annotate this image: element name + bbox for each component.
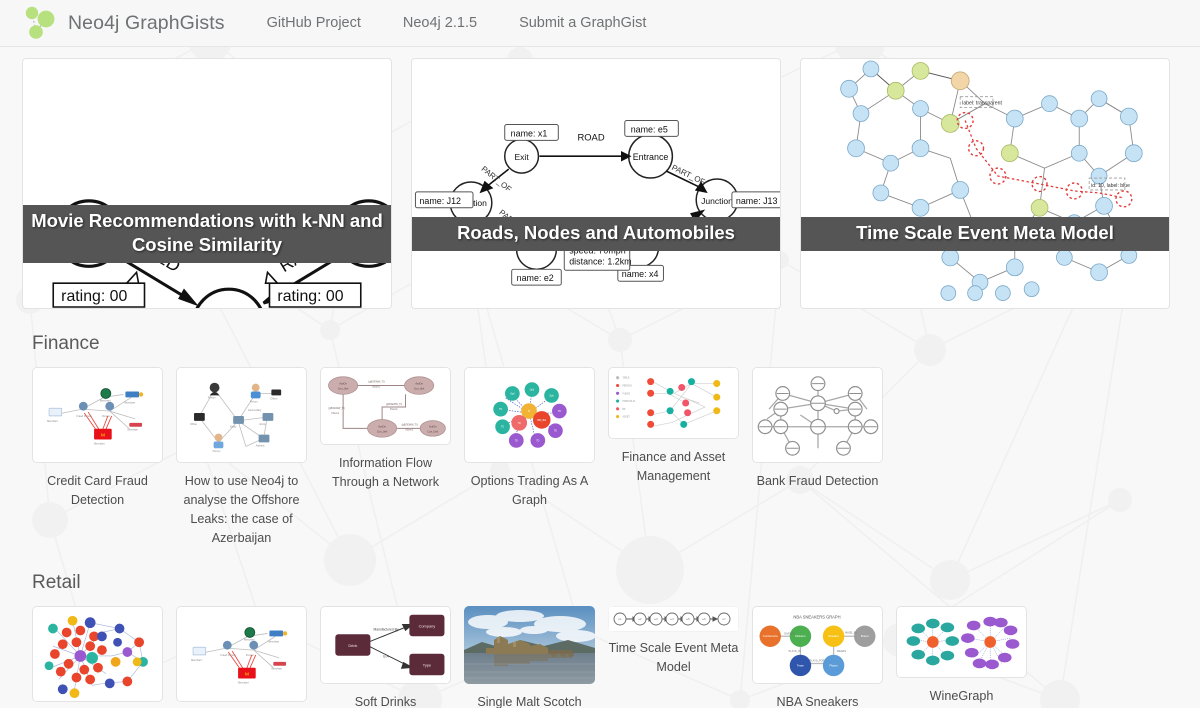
top-navigation-bar: Neo4j GraphGists GitHub Project Neo4j 2.…	[0, 0, 1200, 47]
tile-thumbnail	[32, 606, 163, 702]
tile-label: Time Scale Event Meta Model	[602, 639, 745, 677]
svg-text:Opti: Opti	[549, 394, 554, 397]
brand-title[interactable]: Neo4j GraphGists	[68, 12, 225, 35]
svg-text:{gBOEWW_TI}: {gBOEWW_TI}	[368, 381, 384, 384]
svg-text:Officer: Officer	[270, 397, 277, 400]
svg-text:name: e5: name: e5	[631, 124, 668, 134]
tile-bank-fraud-detection[interactable]: Bank Fraud Detection	[752, 367, 883, 491]
svg-text:e4: e4	[670, 617, 674, 621]
svg-text:e1: e1	[618, 617, 622, 621]
svg-text:FUNDS: FUNDS	[622, 393, 630, 395]
svg-text:Merchant: Merchant	[271, 668, 282, 671]
information-flow-art: ActiOnCon_Unit ActiOnCon_Unit ActiOnCon_…	[321, 368, 450, 444]
svg-text:{gBOEWW_TI}: {gBOEWW_TI}	[329, 407, 345, 410]
svg-text:TD: TD	[536, 440, 539, 442]
finance-tile-row: M MerchantFraud Person PersonMerchant Me…	[22, 367, 1178, 548]
svg-text:Con_Unit: Con_Unit	[377, 430, 388, 433]
svg-text:Con_Unit: Con_Unit	[338, 387, 349, 390]
tile-finance-and-asset-management[interactable]: TABLEPERSON FUNDSPORTFOLIO BPASSET Finan…	[608, 367, 739, 486]
svg-text:Manufactured By: Manufactured By	[374, 627, 399, 631]
tile-label: Finance and Asset Management	[602, 448, 745, 486]
tile-offshore-leaks-azerbaijan[interactable]: PersonPerson PersonOfficer EntityEntity …	[176, 367, 307, 548]
svg-text:Division: Division	[795, 634, 806, 638]
svg-text:{gBOEWW_TI}: {gBOEWW_TI}	[386, 403, 402, 406]
tile-label: Soft Drinks	[314, 693, 457, 708]
section-title-retail: Retail	[32, 572, 1178, 594]
tile-thumbnail: BBID_BidTD OptiOptiOpti TDTD TDTD TDTD	[464, 367, 595, 463]
nav-link-submit-graphgist[interactable]: Submit a GraphGist	[519, 15, 646, 31]
svg-text:MADE_BY: MADE_BY	[845, 631, 857, 634]
svg-text:rating: 00: rating: 00	[61, 288, 127, 305]
svg-text:distance: 1.2km: distance: 1.2km	[569, 256, 631, 266]
svg-text:name: x4: name: x4	[622, 269, 659, 279]
tile-information-flow-through-network[interactable]: ActiOnCon_Unit ActiOnCon_Unit ActiOnCon_…	[320, 367, 451, 492]
svg-text:PERSON: PERSON	[622, 385, 632, 387]
featured-card-roads-nodes-automobiles[interactable]: Exit Entrance Junction Junction ROAD PAR…	[411, 58, 781, 309]
svg-text:Entrance: Entrance	[633, 152, 669, 162]
svg-text:BP: BP	[622, 409, 625, 411]
tile-phone-store[interactable]: Phone Store	[32, 606, 163, 708]
svg-text:Merchant: Merchant	[127, 429, 138, 432]
tile-thumbnail: PersonPerson PersonOfficer EntityEntity …	[176, 367, 307, 463]
options-trading-art: BBID_BidTD OptiOptiOpti TDTD TDTD TDTD	[465, 368, 594, 462]
svg-text:Con_Unit: Con_Unit	[428, 430, 439, 433]
nav-link-neo4j-version[interactable]: Neo4j 2.1.5	[403, 15, 477, 31]
svg-text:name: J13: name: J13	[736, 196, 778, 206]
tile-credit-card-fraud-detection-retail[interactable]: M MerchantFraud Person PersonMerchant Me…	[176, 606, 307, 708]
soft-drinks-art: DrinkCompanyType Manufactured By Is A	[321, 607, 450, 683]
svg-text:TD: TD	[499, 409, 502, 411]
tile-soft-drinks[interactable]: DrinkCompanyType Manufactured By Is A So…	[320, 606, 451, 708]
svg-text:intermediary: intermediary	[248, 409, 262, 412]
roads-nodes-graph-art: Exit Entrance Junction Junction ROAD PAR…	[412, 59, 780, 308]
tile-thumbnail: DrinkCompanyType Manufactured By Is A	[320, 606, 451, 684]
svg-text:ASSET: ASSET	[622, 416, 630, 419]
svg-text:ROAD: ROAD	[577, 131, 604, 142]
svg-text:Merchant: Merchant	[238, 681, 249, 684]
tile-single-malt-scotch[interactable]: Single Malt Scotch	[464, 606, 595, 708]
svg-text:Address: Address	[256, 444, 266, 447]
svg-text:TD: TD	[518, 423, 521, 425]
svg-text:Conference: Conference	[763, 634, 778, 638]
bank-fraud-art	[753, 368, 882, 462]
svg-text:ActiOn: ActiOn	[339, 383, 347, 386]
svg-text:ActiOn: ActiOn	[429, 425, 437, 428]
tile-label: Information Flow Through a Network	[314, 454, 457, 492]
svg-text:e2: e2	[638, 617, 642, 621]
svg-text:Merchant: Merchant	[244, 638, 255, 641]
tile-thumbnail	[896, 606, 1027, 678]
finance-asset-art: TABLEPERSON FUNDSPORTFOLIO BPASSET	[609, 368, 738, 438]
tile-label: Options Trading As A Graph	[458, 472, 601, 510]
tile-thumbnail	[752, 367, 883, 463]
svg-text:Junction: Junction	[701, 196, 733, 206]
svg-text:hSum1: hSum1	[405, 428, 413, 431]
svg-text:Opti: Opti	[510, 392, 515, 395]
wine-graph-art	[897, 607, 1026, 677]
svg-text:M: M	[101, 433, 105, 439]
retail-tile-row: Phone Store	[22, 606, 1178, 708]
svg-text:TD: TD	[558, 411, 561, 413]
svg-text:hSum1: hSum1	[372, 385, 380, 388]
svg-text:Person: Person	[213, 450, 221, 453]
tile-label: Bank Fraud Detection	[746, 472, 889, 491]
svg-text:NBA SNEAKERS GRAPH: NBA SNEAKERS GRAPH	[793, 615, 840, 620]
svg-text:e5: e5	[686, 617, 690, 621]
nav-link-github-project[interactable]: GitHub Project	[267, 15, 361, 31]
svg-text:name: x1: name: x1	[511, 128, 548, 138]
tile-thumbnail: NBA SNEAKERS GRAPH	[752, 606, 883, 684]
tile-thumbnail: M MerchantFraud Person PersonMerchant Me…	[176, 606, 307, 702]
svg-text:Opti: Opti	[530, 389, 535, 392]
tile-thumbnail: ActiOnCon_Unit ActiOnCon_Unit ActiOnCon_…	[320, 367, 451, 445]
featured-card-movie-recommendations[interactable]: Person Person RATED RATED rating: 00	[22, 58, 392, 309]
svg-text:rating: 00: rating: 00	[277, 288, 343, 305]
featured-card-title: Roads, Nodes and Automobiles	[412, 217, 780, 251]
svg-text:Brand: Brand	[861, 634, 869, 638]
svg-text:Person: Person	[250, 400, 258, 403]
svg-text:Person: Person	[246, 654, 255, 657]
svg-text:name: e2: name: e2	[517, 273, 554, 283]
svg-text:PORTFOLIO: PORTFOLIO	[622, 401, 635, 403]
svg-text:Team: Team	[797, 663, 805, 667]
svg-text:Sneaker: Sneaker	[828, 634, 839, 638]
svg-text:M: M	[245, 672, 249, 678]
svg-text:ActiOn: ActiOn	[415, 383, 423, 386]
svg-text:Entity: Entity	[260, 423, 267, 426]
svg-text:hSum1: hSum1	[331, 412, 339, 415]
svg-text:e3: e3	[654, 617, 658, 621]
svg-text:Merchant: Merchant	[268, 640, 279, 643]
svg-text:Person: Person	[208, 396, 216, 399]
section-title-finance: Finance	[32, 333, 1178, 355]
svg-text:PLAYS_FOR: PLAYS_FOR	[810, 660, 825, 663]
svg-text:Fraud Person: Fraud Person	[76, 415, 92, 418]
featured-card-title: Time Scale Event Meta Model	[801, 217, 1169, 251]
neo4j-graph-logo-icon[interactable]	[22, 5, 56, 41]
tile-options-trading-as-a-graph[interactable]: BBID_BidTD OptiOptiOpti TDTD TDTD TDTD O…	[464, 367, 595, 510]
svg-text:Merchant: Merchant	[191, 659, 202, 662]
section-retail: Retail	[0, 572, 1200, 708]
svg-text:Exit: Exit	[514, 152, 529, 162]
svg-text:name: J12: name: J12	[419, 196, 461, 206]
section-finance: Finance	[0, 333, 1200, 548]
featured-card-title: Movie Recommendations with k-NN and Cosi…	[23, 205, 391, 263]
credit-card-fraud-art: M MerchantFraud Person PersonMerchant Me…	[177, 607, 306, 701]
svg-text:Fraud Person: Fraud Person	[220, 654, 236, 657]
nav-links: GitHub Project Neo4j 2.1.5 Submit a Grap…	[267, 15, 647, 31]
tile-credit-card-fraud-detection[interactable]: M MerchantFraud Person PersonMerchant Me…	[32, 367, 163, 510]
featured-cards-row: Person Person RATED RATED rating: 00	[0, 47, 1200, 309]
svg-text:WEARS: WEARS	[837, 650, 847, 653]
credit-card-fraud-art: M MerchantFraud Person PersonMerchant Me…	[33, 368, 162, 462]
offshore-leaks-art: PersonPerson PersonOfficer EntityEntity …	[177, 368, 306, 462]
svg-text:TD: TD	[554, 431, 557, 433]
svg-text:Merchant: Merchant	[94, 442, 105, 445]
tile-time-scale-event-meta-model[interactable]: e1e2e3 e4e5e6 e7 Time Scale Event Meta M…	[608, 606, 739, 677]
svg-text:TD: TD	[501, 427, 504, 429]
svg-text:Con_Unit: Con_Unit	[414, 387, 425, 390]
svg-text:DIVISION: DIVISION	[784, 632, 795, 635]
svg-text:Person: Person	[102, 415, 111, 418]
tile-thumbnail	[464, 606, 595, 684]
tile-label: How to use Neo4j to analyse the Offshore…	[170, 472, 313, 548]
tile-thumbnail: M MerchantFraud Person PersonMerchant Me…	[32, 367, 163, 463]
scotch-photo-art	[464, 606, 595, 684]
tile-label: WineGraph	[890, 687, 1033, 706]
svg-text:id: 10, label: blue: id: 10, label: blue	[1091, 183, 1130, 189]
svg-text:BID_Bid: BID_Bid	[537, 420, 546, 422]
svg-text:Type: Type	[423, 662, 431, 667]
svg-text:{gBOEWW_TI}: {gBOEWW_TI}	[402, 423, 418, 426]
svg-text:TABLE: TABLE	[622, 377, 629, 380]
tile-nba-sneakers[interactable]: NBA SNEAKERS GRAPH	[752, 606, 883, 708]
time-scale-event-graph-art: label: transparent id: 10, label: blue M…	[801, 59, 1169, 308]
svg-text:TD: TD	[515, 440, 518, 442]
featured-card-time-scale-event-meta-model[interactable]: label: transparent id: 10, label: blue M…	[800, 58, 1170, 309]
tile-winegraph[interactable]: WineGraph	[896, 606, 1027, 706]
nba-sneakers-art: NBA SNEAKERS GRAPH	[753, 607, 882, 683]
tile-thumbnail: e1e2e3 e4e5e6 e7	[608, 606, 739, 632]
svg-text:Is A: Is A	[383, 655, 389, 659]
movie-knn-graph-art: Person Person RATED RATED rating: 00	[23, 59, 391, 308]
svg-text:label: transparent: label: transparent	[962, 101, 1002, 107]
svg-text:ActiOn: ActiOn	[378, 425, 386, 428]
svg-text:e6: e6	[702, 617, 706, 621]
svg-text:Merchant: Merchant	[124, 401, 135, 404]
phone-store-art	[33, 607, 162, 701]
svg-text:Officer: Officer	[190, 423, 197, 426]
svg-text:Drink: Drink	[348, 643, 357, 648]
svg-text:Merchant: Merchant	[47, 420, 58, 423]
svg-text:Entity: Entity	[230, 426, 237, 429]
tile-thumbnail: TABLEPERSON FUNDSPORTFOLIO BPASSET	[608, 367, 739, 439]
svg-text:hSum1: hSum1	[390, 408, 398, 411]
tile-label: Credit Card Fraud Detection	[26, 472, 169, 510]
svg-text:PLAYS_IN: PLAYS_IN	[789, 650, 801, 653]
svg-text:Company: Company	[419, 623, 436, 628]
tile-label: Single Malt Scotch	[458, 693, 601, 708]
tile-label: NBA Sneakers	[746, 693, 889, 708]
svg-text:Merchant: Merchant	[100, 399, 111, 402]
page-root: Neo4j GraphGists GitHub Project Neo4j 2.…	[0, 0, 1200, 708]
time-chain-art: e1e2e3 e4e5e6 e7	[608, 606, 739, 632]
svg-text:Player: Player	[829, 663, 837, 667]
svg-text:e7: e7	[722, 617, 726, 621]
